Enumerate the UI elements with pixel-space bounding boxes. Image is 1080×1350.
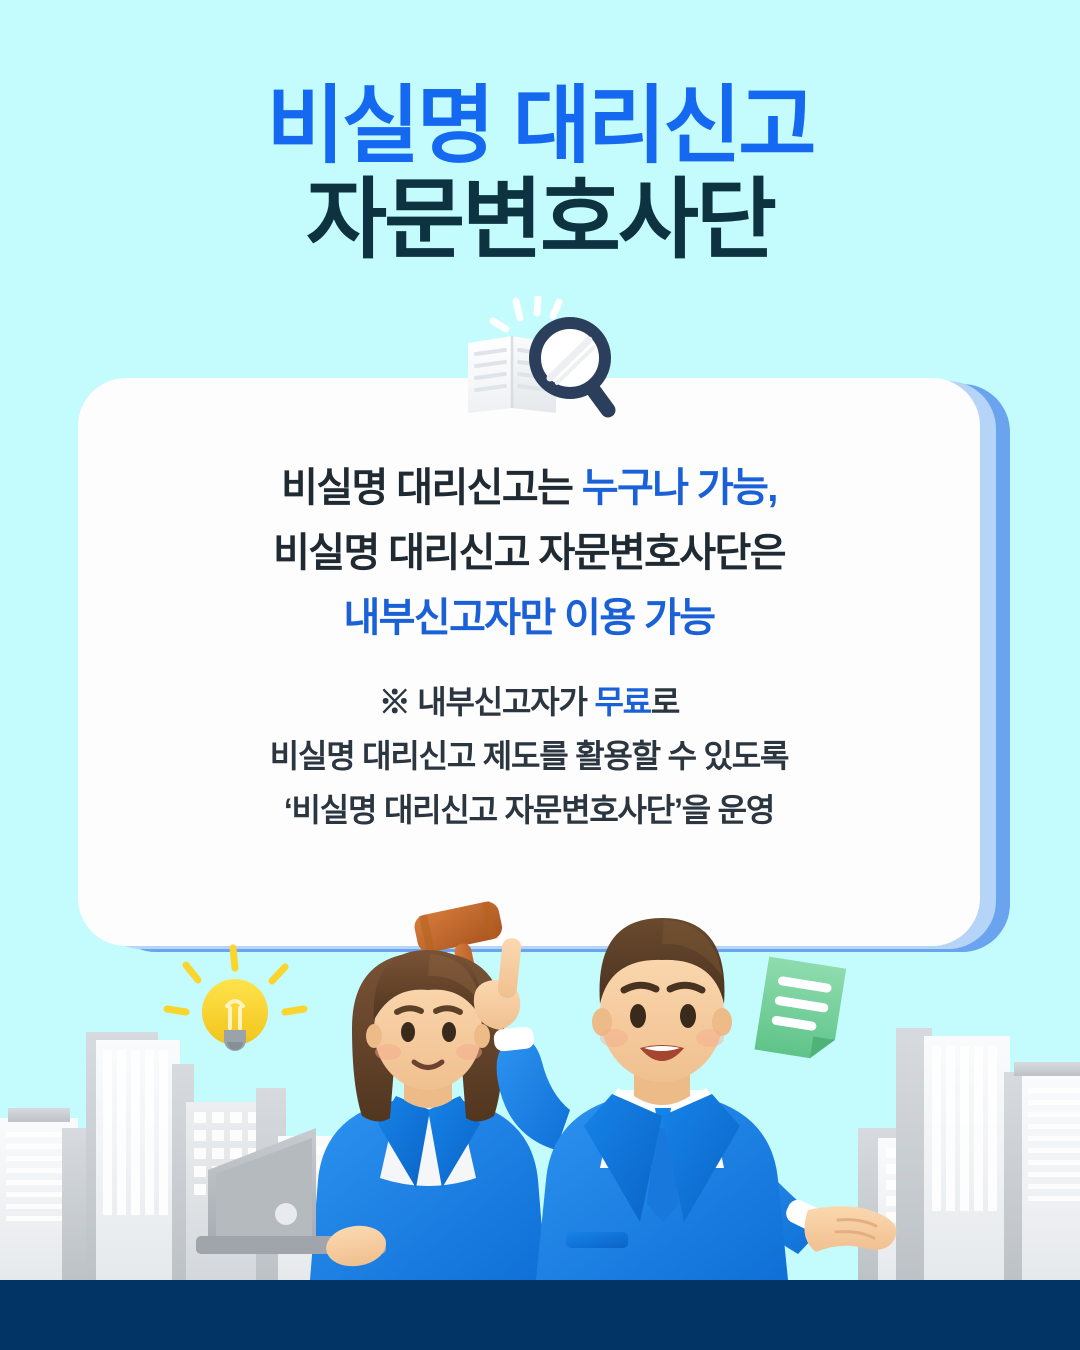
info-card-wrapper: 비실명 대리신고는 누구나 가능, 비실명 대리신고 자문변호사단은 내부신고자… <box>78 378 980 946</box>
card-note: ※ 내부신고자가 무료로 비실명 대리신고 제도를 활용할 수 있도록 ‘비실명… <box>270 676 789 837</box>
headline-line-1: 비실명 대리신고는 누구나 가능, <box>273 456 785 521</box>
document-icon <box>754 957 846 1062</box>
info-card: 비실명 대리신고는 누구나 가능, 비실명 대리신고 자문변호사단은 내부신고자… <box>78 378 980 946</box>
page-title: 비실명 대리신고 자문변호사단 <box>0 84 1080 264</box>
note-line-1: ※ 내부신고자가 무료로 <box>270 676 789 730</box>
hero-icon-cluster <box>460 296 640 416</box>
note-line-1-prefix: 내부신고자가 <box>417 684 594 720</box>
poster-root: 비실명 대리신고 자문변호사단 <box>0 0 1080 1350</box>
headline-line-1-prefix: 비실명 대리신고는 <box>281 466 582 510</box>
note-line-2: 비실명 대리신고 제도를 활용할 수 있도록 <box>270 730 789 784</box>
note-line-1-highlight: 무료 <box>594 684 650 720</box>
note-line-3: ‘비실명 대리신고 자문변호사단’을 운영 <box>270 784 789 838</box>
characters-svg <box>0 880 1080 1280</box>
bottom-bar <box>0 1280 1080 1350</box>
card-headline: 비실명 대리신고는 누구나 가능, 비실명 대리신고 자문변호사단은 내부신고자… <box>273 456 785 650</box>
book-magnifier-svg <box>460 296 640 421</box>
characters-layer <box>0 880 1080 1280</box>
title-line-1: 비실명 대리신고 <box>0 84 1080 171</box>
headline-line-3: 내부신고자만 이용 가능 <box>273 586 785 651</box>
headline-line-2: 비실명 대리신고 자문변호사단은 <box>273 521 785 586</box>
headline-line-1-highlight: 누구나 가능, <box>582 466 777 510</box>
note-mark-icon: ※ <box>379 684 418 720</box>
lightbulb-icon <box>167 948 304 1051</box>
note-line-1-suffix: 로 <box>651 684 679 720</box>
title-line-2: 자문변호사단 <box>0 175 1080 265</box>
